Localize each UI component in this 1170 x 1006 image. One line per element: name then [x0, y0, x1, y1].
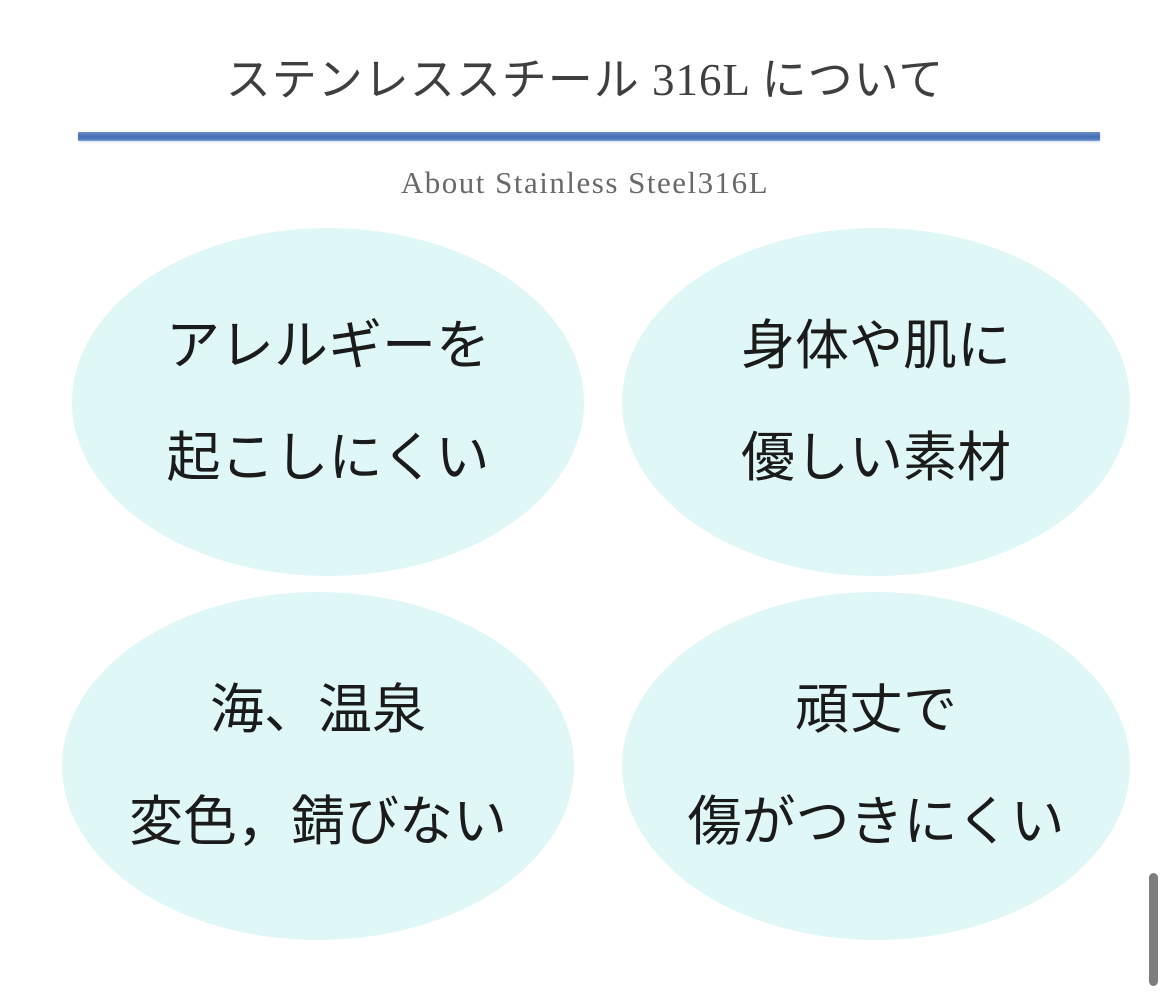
scrollbar-track[interactable]	[1148, 0, 1158, 1006]
feature-line-2: 起こしにくい	[167, 431, 490, 485]
feature-line-1: 頑丈で	[795, 683, 957, 737]
feature-line-2: 優しい素材	[741, 431, 1011, 485]
feature-line-2: 変色，錆びない	[129, 795, 507, 849]
scrollbar-thumb[interactable]	[1149, 873, 1158, 986]
feature-ellipse-grid: アレルギーを 起こしにくい 身体や肌に 優しい素材 海、温泉 変色，錆びない 頑…	[0, 0, 1170, 1006]
feature-line-1: 海、温泉	[210, 683, 426, 737]
feature-ellipse-allergy: アレルギーを 起こしにくい	[72, 228, 584, 576]
feature-ellipse-skin-friendly: 身体や肌に 優しい素材	[622, 228, 1130, 576]
feature-line-1: 身体や肌に	[741, 319, 1011, 373]
page-root: ステンレススチール 316L について About Stainless Stee…	[0, 0, 1170, 1006]
feature-ellipse-no-rust: 海、温泉 変色，錆びない	[62, 592, 574, 940]
feature-line-1: アレルギーを	[166, 319, 490, 373]
feature-line-2: 傷がつきにくい	[688, 795, 1065, 849]
feature-ellipse-durable: 頑丈で 傷がつきにくい	[622, 592, 1130, 940]
